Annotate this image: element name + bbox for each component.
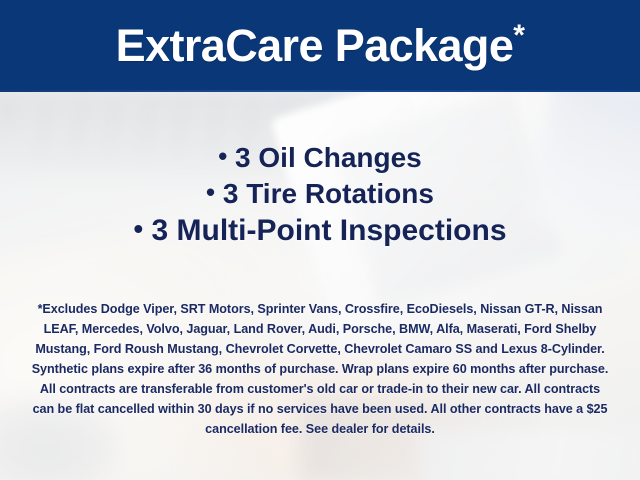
page-title: ExtraCare Package* xyxy=(116,23,525,70)
bullet-icon: • xyxy=(206,179,215,207)
page-title-text: ExtraCare Package xyxy=(116,20,514,71)
bullet-icon: • xyxy=(133,213,143,244)
extracare-package-advertisement: ExtraCare Package* • 3 Oil Changes • 3 T… xyxy=(0,0,640,480)
list-item-label: 3 Tire Rotations xyxy=(223,178,434,209)
disclaimer-text: *Excludes Dodge Viper, SRT Motors, Sprin… xyxy=(28,299,612,440)
page-title-asterisk: * xyxy=(513,19,524,52)
header-banner: ExtraCare Package* xyxy=(0,0,640,92)
list-item-label: 3 Oil Changes xyxy=(235,142,422,173)
list-item: • 3 Tire Rotations xyxy=(0,178,640,211)
benefits-list: • 3 Oil Changes • 3 Tire Rotations • 3 M… xyxy=(0,142,640,249)
bullet-icon: • xyxy=(218,143,227,171)
list-item: • 3 Oil Changes xyxy=(0,142,640,175)
list-item: • 3 Multi-Point Inspections xyxy=(0,214,640,249)
list-item-label: 3 Multi-Point Inspections xyxy=(152,214,507,247)
